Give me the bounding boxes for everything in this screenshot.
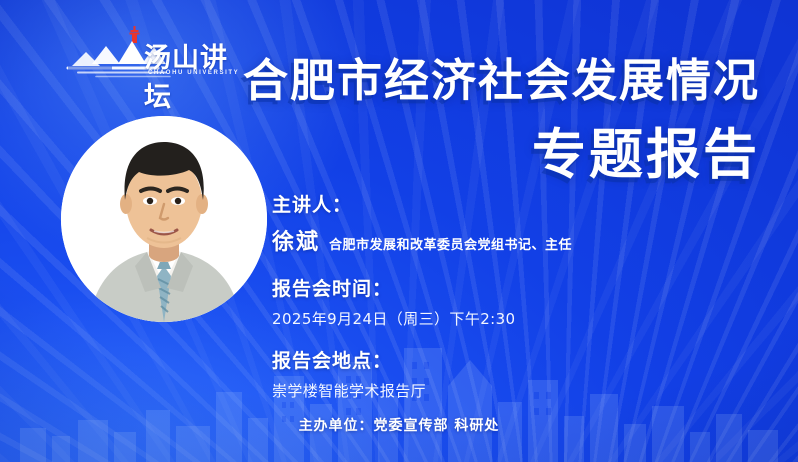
chaohu-university-logo: 汤山讲坛 CHAOHU UNIVERSITY	[62, 22, 242, 84]
place-label: 报告会地点：	[272, 346, 572, 373]
headline-line-1: 合肥市经济社会发展情况	[243, 58, 760, 103]
speaker-portrait-wrapper	[61, 116, 267, 322]
time-label: 报告会时间：	[272, 274, 572, 301]
pagoda-icon	[130, 26, 140, 43]
speaker-title: 合肥市发展和改革委员会党组书记、主任	[329, 234, 572, 253]
lecture-poster: 汤山讲坛 CHAOHU UNIVERSITY 合肥市经济社会发展情况 专题报告	[0, 0, 798, 462]
headline-line-2: 专题报告	[532, 128, 760, 182]
organizer-footer: 主办单位：党委宣传部 科研处	[0, 415, 798, 435]
time-value: 2025年9月24日（周三）下午2:30	[272, 308, 572, 329]
avatar	[61, 116, 267, 322]
speaker-row: 徐斌 合肥市发展和改革委员会党组书记、主任	[272, 224, 572, 256]
speaker-portrait-icon	[61, 116, 267, 322]
speaker-label: 主讲人：	[272, 190, 572, 217]
lecture-info-block: 主讲人： 徐斌 合肥市发展和改革委员会党组书记、主任 报告会时间： 2025年9…	[272, 190, 572, 401]
place-value: 崇学楼智能学术报告厅	[272, 380, 572, 401]
logo-name-en: CHAOHU UNIVERSITY	[148, 70, 239, 76]
speaker-name: 徐斌	[272, 224, 320, 256]
